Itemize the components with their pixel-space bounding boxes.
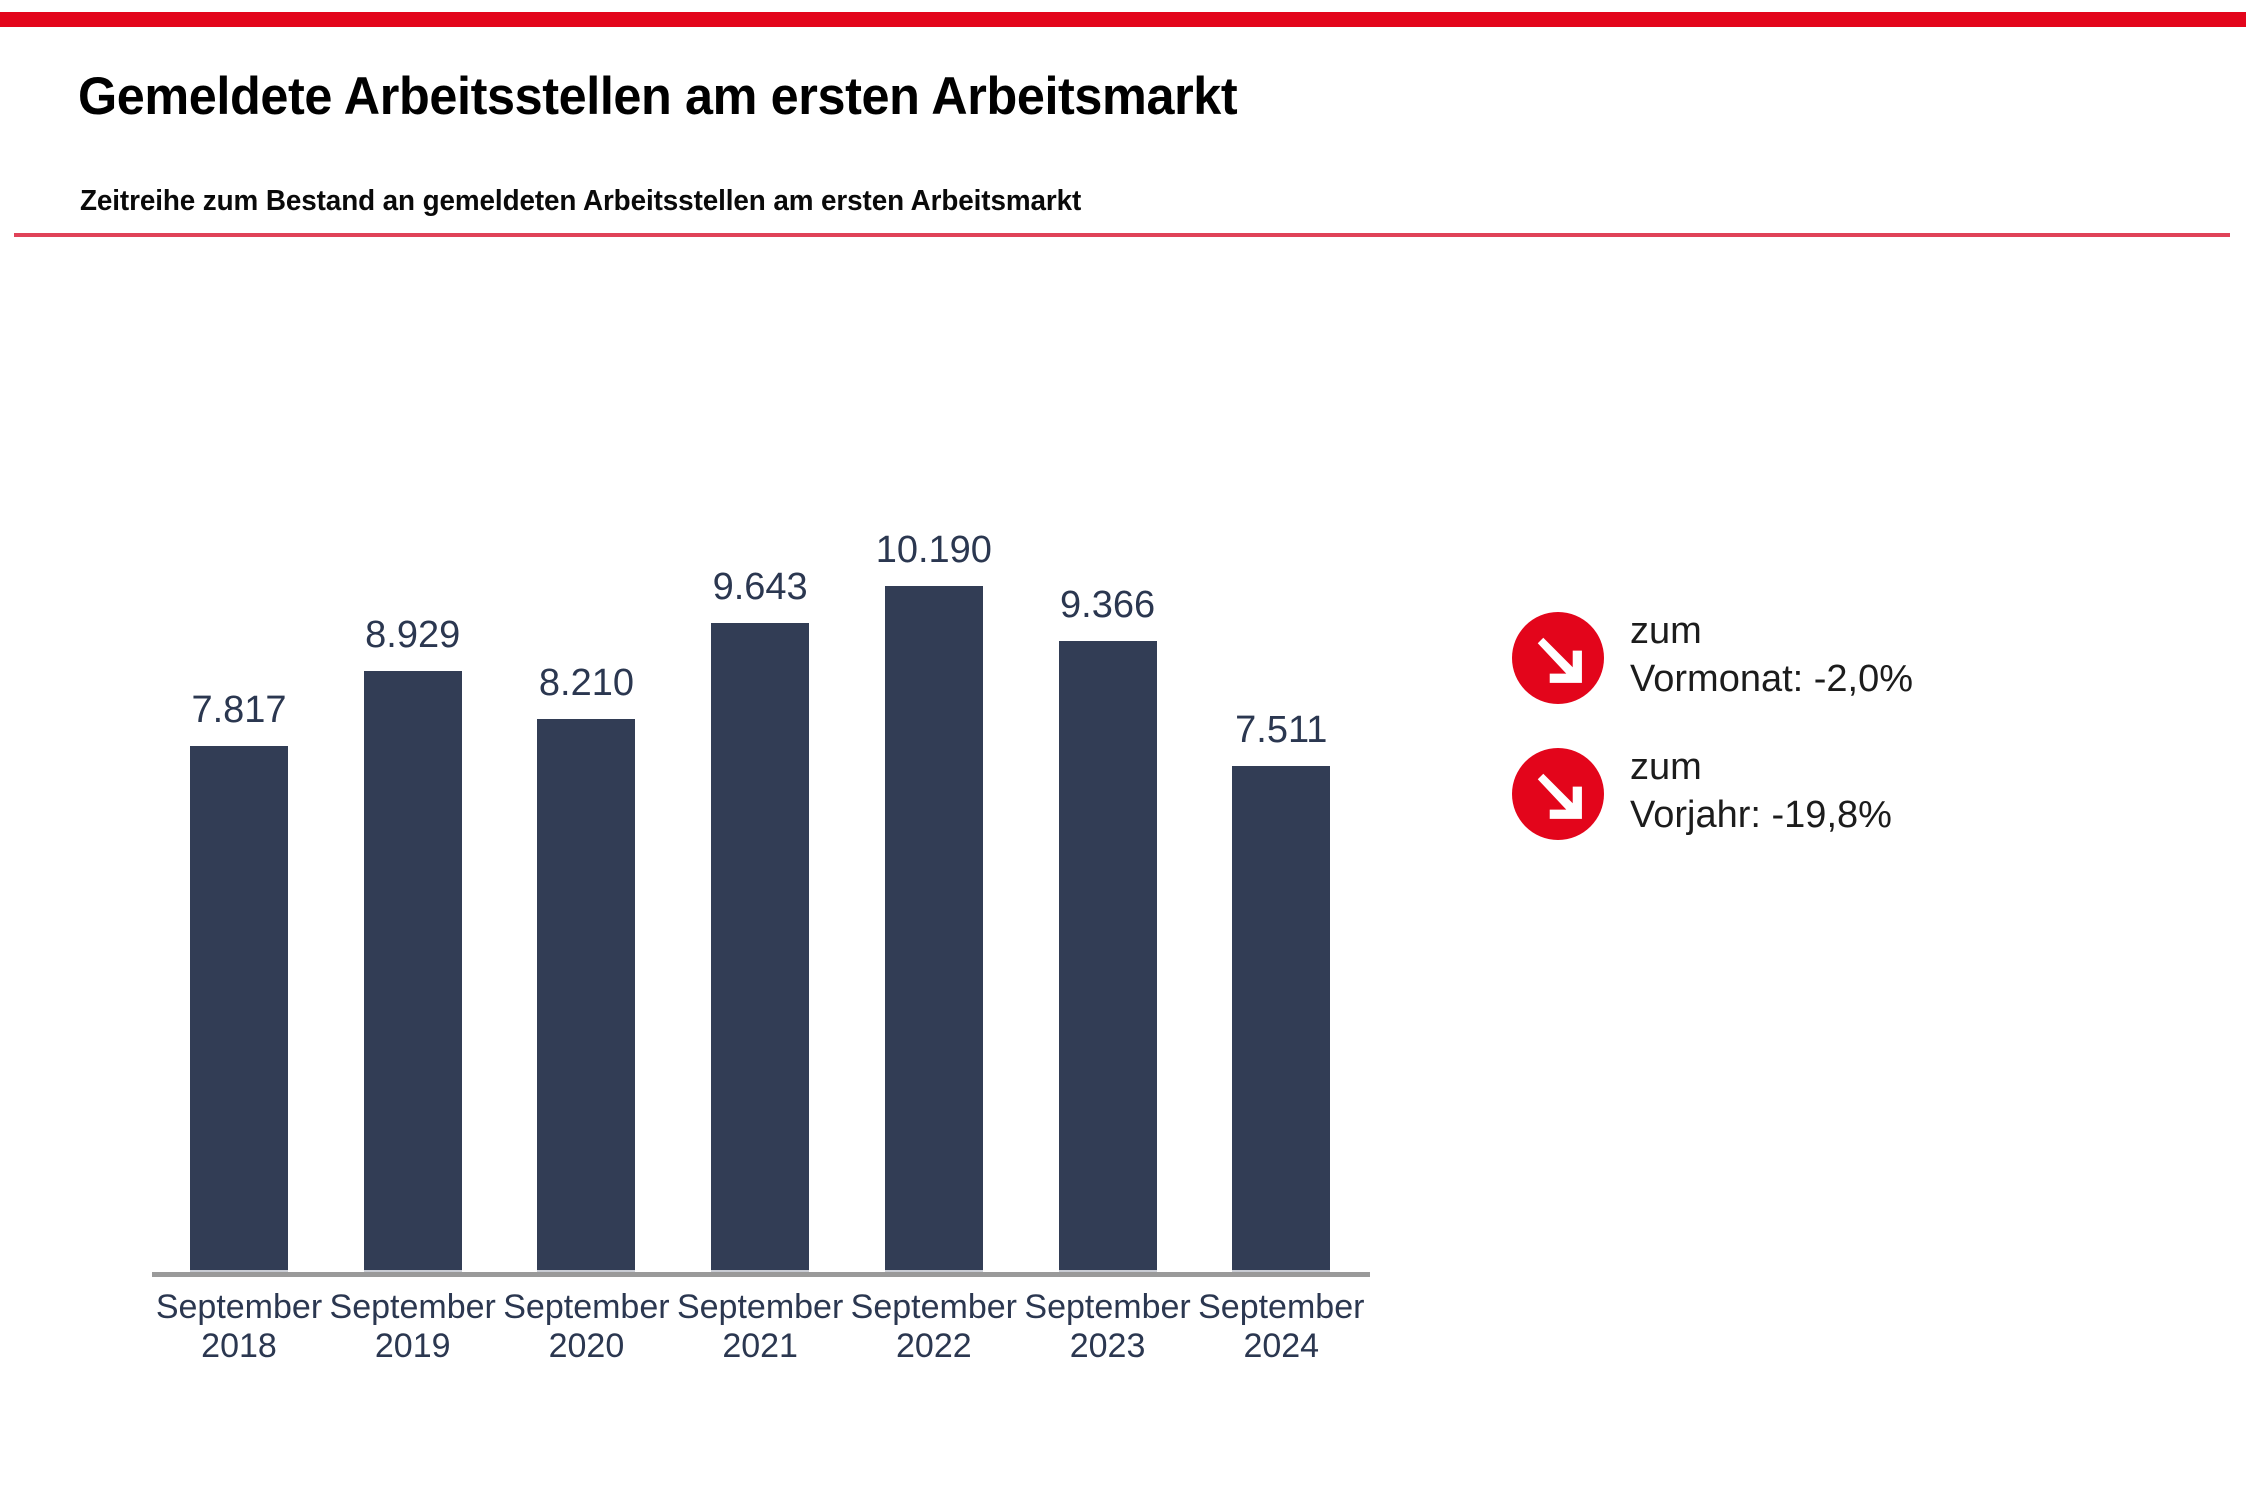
bar[interactable] <box>537 719 635 1272</box>
x-axis-label: September2021 <box>673 1288 847 1367</box>
bar[interactable] <box>364 671 462 1272</box>
bar-value-label: 9.643 <box>673 566 847 609</box>
bar-value-label: 8.929 <box>326 614 500 657</box>
bar[interactable] <box>711 623 809 1272</box>
bar-value-label: 10.190 <box>847 529 1021 572</box>
bar-group: 9.643 <box>673 300 847 1272</box>
x-axis-label: September2019 <box>326 1288 500 1367</box>
bar-group: 7.511 <box>1194 300 1368 1272</box>
bar-group: 7.817 <box>152 300 326 1272</box>
bar-value-label: 9.366 <box>1021 584 1195 627</box>
x-axis-label: September2020 <box>499 1288 673 1367</box>
bar-value-label: 7.817 <box>152 689 326 732</box>
bar-value-label: 8.210 <box>499 662 673 705</box>
arrow-down-right-circle-icon <box>1512 612 1604 704</box>
bar-group: 8.929 <box>326 300 500 1272</box>
indicator-text: zumVorjahr: -19,8% <box>1630 744 1892 840</box>
x-axis-line <box>152 1272 1370 1277</box>
arrow-down-right-circle-icon <box>1512 748 1604 840</box>
x-axis-label: September2018 <box>152 1288 326 1367</box>
x-axis-label: September2024 <box>1194 1288 1368 1367</box>
bar[interactable] <box>1232 766 1330 1272</box>
x-axis-label: September2023 <box>1021 1288 1195 1367</box>
chart-plot-area: 7.8178.9298.2109.64310.1909.3667.511 <box>152 300 1368 1272</box>
bar-chart: 7.8178.9298.2109.64310.1909.3667.511 Sep… <box>0 0 1500 1500</box>
bar-group: 9.366 <box>1021 300 1195 1272</box>
x-axis-label: September2022 <box>847 1288 1021 1367</box>
bar[interactable] <box>885 586 983 1272</box>
bar[interactable] <box>1059 641 1157 1272</box>
indicator-text: zumVormonat: -2,0% <box>1630 608 1913 704</box>
bar-value-label: 7.511 <box>1194 709 1368 752</box>
bar-group: 8.210 <box>499 300 673 1272</box>
bar[interactable] <box>190 746 288 1272</box>
bar-group: 10.190 <box>847 300 1021 1272</box>
